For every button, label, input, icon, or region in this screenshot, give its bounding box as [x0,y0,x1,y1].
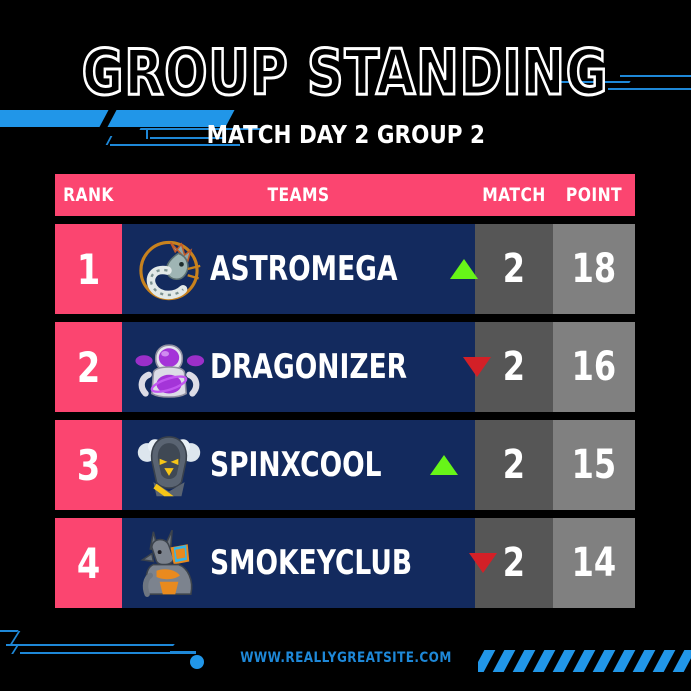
rank-cell: 1 [55,224,122,314]
point-cell: 16 [553,322,635,412]
table-row[interactable]: 3 SPINXCOOL [55,420,635,510]
column-header-point: POINT [560,184,627,206]
point-value: 18 [572,246,617,292]
rank-cell: 2 [55,322,122,412]
trend-down-icon [469,553,497,573]
team-cell: SMOKEYCLUB [122,518,475,608]
match-value: 2 [503,344,525,390]
hooded-logo [130,424,208,506]
standings-table: RANK TEAMS MATCH POINT 1 ASTROMEGA [55,174,635,608]
trend-down-icon [463,357,491,377]
anubis-logo [130,522,208,604]
match-value: 2 [503,246,525,292]
deco-line [159,644,175,646]
footer-stripes [478,650,691,672]
point-cell: 15 [553,420,635,510]
rank-cell: 4 [55,518,122,608]
team-cell: DRAGONIZER [122,322,475,412]
match-value: 2 [503,442,525,488]
team-name: ASTROMEGA [210,249,397,289]
team-cell: ASTROMEGA [122,224,475,314]
dragon-logo [130,228,208,310]
point-cell: 18 [553,224,635,314]
deco-line [0,630,19,632]
column-header-teams: TEAMS [154,184,443,206]
page-subtitle: MATCH DAY 2 GROUP 2 [206,120,484,149]
team-cell: SPINXCOOL [122,420,475,510]
point-value: 14 [572,540,617,586]
deco-line [10,631,21,645]
match-cell: 2 [475,420,553,510]
rank-value: 3 [77,441,100,490]
rank-value: 4 [77,539,100,588]
page-title: GROUP STANDING [82,42,608,104]
rank-value: 2 [77,343,100,392]
poster-canvas: GROUP STANDING MATCH DAY 2 GROUP 2 RANK … [0,0,691,691]
website-url: WWW.REALLYGREATSITE.COM [240,650,452,666]
team-name: DRAGONIZER [210,347,407,387]
table-header-row: RANK TEAMS MATCH POINT [55,174,635,216]
astronaut-logo [130,326,208,408]
point-value: 15 [572,442,617,488]
column-header-rank: RANK [61,184,116,206]
title-block: GROUP STANDING MATCH DAY 2 GROUP 2 [0,42,691,149]
rank-cell: 3 [55,420,122,510]
trend-up-icon [450,259,478,279]
team-name: SPINXCOOL [210,445,382,485]
table-row[interactable]: 1 ASTROMEGA 2 18 [55,224,635,314]
point-cell: 14 [553,518,635,608]
rank-value: 1 [77,245,100,294]
table-row[interactable]: 2 DRAGONIZER 2 [55,322,635,412]
table-row[interactable]: 4 SMOKEYCLUB [55,518,635,608]
trend-up-icon [430,455,458,475]
column-header-match: MATCH [482,184,546,206]
deco-line [6,644,166,646]
match-cell: 2 [475,224,553,314]
team-name: SMOKEYCLUB [210,543,412,583]
point-value: 16 [572,344,617,390]
match-value: 2 [503,540,525,586]
